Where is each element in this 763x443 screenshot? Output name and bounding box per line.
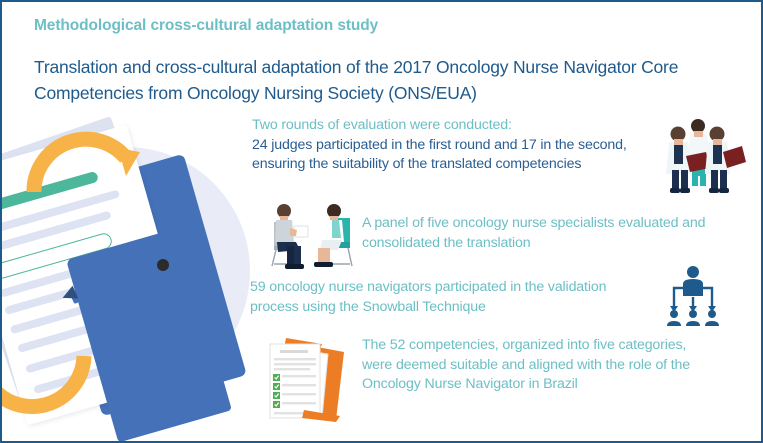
finding-text: The 52 competencies, organized into five… bbox=[362, 336, 702, 395]
org-chart-bottom-nodes bbox=[667, 310, 719, 326]
header-block: Methodological cross-cultural adaptation… bbox=[34, 16, 734, 106]
two-people-interview-illustration bbox=[260, 198, 360, 272]
person-right bbox=[314, 204, 344, 267]
orange-cycle-arrow-bottom bbox=[0, 304, 96, 432]
orange-cycle-arrow-top bbox=[22, 114, 150, 242]
finding-row-validation-sample: 59 oncology nurse navigators participate… bbox=[250, 278, 640, 317]
infographic-canvas: Methodological cross-cultural adaptation… bbox=[0, 0, 763, 443]
org-chart-icon bbox=[650, 264, 736, 326]
finding-row-rounds-of-evaluation: Two rounds of evaluation were conducted:… bbox=[252, 116, 642, 175]
finding-text: Two rounds of evaluation were conducted:… bbox=[252, 116, 642, 175]
pen-cap bbox=[157, 259, 169, 271]
paper-sheet-front bbox=[270, 344, 320, 418]
document-translation-illustration bbox=[0, 122, 250, 443]
finding-lead: Two rounds of evaluation were conducted: bbox=[252, 116, 642, 136]
finding-text: 59 oncology nurse navigators participate… bbox=[250, 278, 640, 317]
finding-row-competencies-result: The 52 competencies, organized into five… bbox=[362, 336, 702, 395]
page-title: Translation and cross-cultural adaptatio… bbox=[34, 54, 724, 106]
finding-text: A panel of five oncology nurse specialis… bbox=[362, 214, 707, 253]
three-doctors-illustration bbox=[650, 112, 746, 196]
finding-row-expert-panel: A panel of five oncology nurse specialis… bbox=[362, 214, 707, 253]
finding-body: 24 judges participated in the first roun… bbox=[252, 136, 642, 175]
study-type-eyebrow: Methodological cross-cultural adaptation… bbox=[34, 16, 734, 36]
documents-folder-illustration bbox=[260, 332, 356, 424]
person-left bbox=[275, 204, 308, 269]
org-chart-top-node bbox=[683, 266, 703, 296]
doctor-right bbox=[705, 127, 746, 194]
